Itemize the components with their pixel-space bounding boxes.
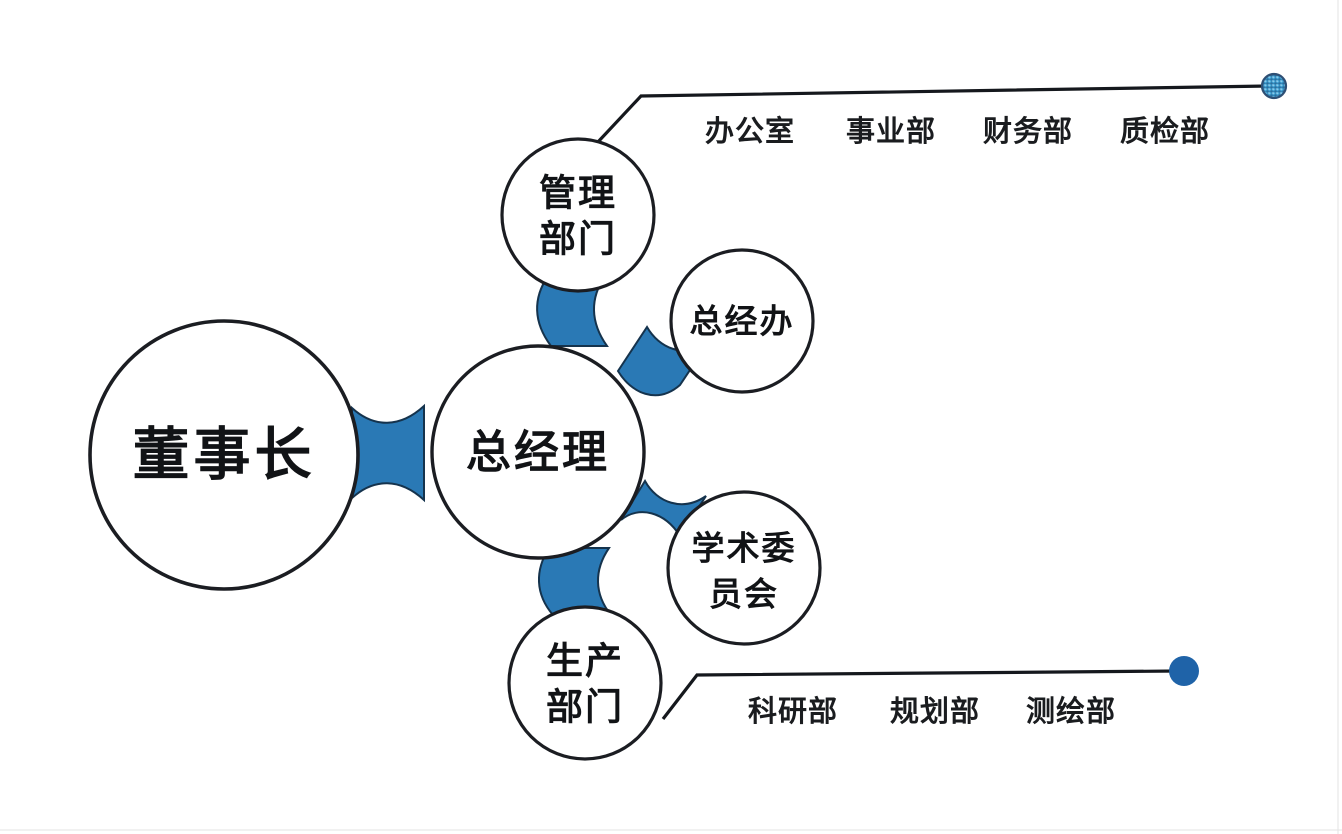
node-management-dept[interactable]: 管理 部门 [502, 139, 654, 291]
node-chairman[interactable]: 董事长 [90, 321, 358, 589]
node-production-dept-circle [509, 607, 661, 759]
leaf-label-business-division[interactable]: 事业部 [846, 114, 936, 148]
node-general-manager-label: 总经理 [466, 426, 610, 479]
node-management-dept-label-line2: 部门 [539, 218, 617, 261]
node-gm-office[interactable]: 总经办 [671, 250, 813, 392]
production-branch-endpoint-dot-icon [1169, 656, 1199, 686]
leaf-label-office[interactable]: 办公室 [705, 114, 795, 148]
node-academic-committee[interactable]: 学术委 员会 [668, 492, 820, 644]
node-production-dept-label-line2: 部门 [546, 686, 624, 729]
leaf-label-research-dept[interactable]: 科研部 [748, 694, 838, 728]
node-academic-committee-label-line1: 学术委 [692, 529, 797, 568]
leaf-label-planning-dept[interactable]: 规划部 [890, 694, 980, 728]
node-production-dept[interactable]: 生产 部门 [509, 607, 661, 759]
node-academic-committee-label-line2: 员会 [709, 575, 779, 614]
node-management-dept-circle [502, 139, 654, 291]
node-general-manager[interactable]: 总经理 [432, 346, 644, 558]
organization-chart-canvas: 董事长 总经理 管理 部门 总经办 学术委 员会 生产 部门 办公室 事业部 财… [0, 0, 1342, 834]
node-academic-committee-circle [668, 492, 820, 644]
leaf-label-finance-dept[interactable]: 财务部 [983, 114, 1073, 148]
leaf-label-surveying-dept[interactable]: 测绘部 [1026, 694, 1116, 728]
management-branch-endpoint-dot-icon [1262, 74, 1286, 98]
node-chairman-label: 董事长 [133, 422, 316, 488]
node-production-dept-label-line1: 生产 [546, 640, 624, 683]
node-management-dept-label-line1: 管理 [539, 172, 617, 215]
leaf-label-quality-inspection-dept[interactable]: 质检部 [1120, 114, 1210, 148]
node-gm-office-label: 总经办 [690, 302, 795, 341]
